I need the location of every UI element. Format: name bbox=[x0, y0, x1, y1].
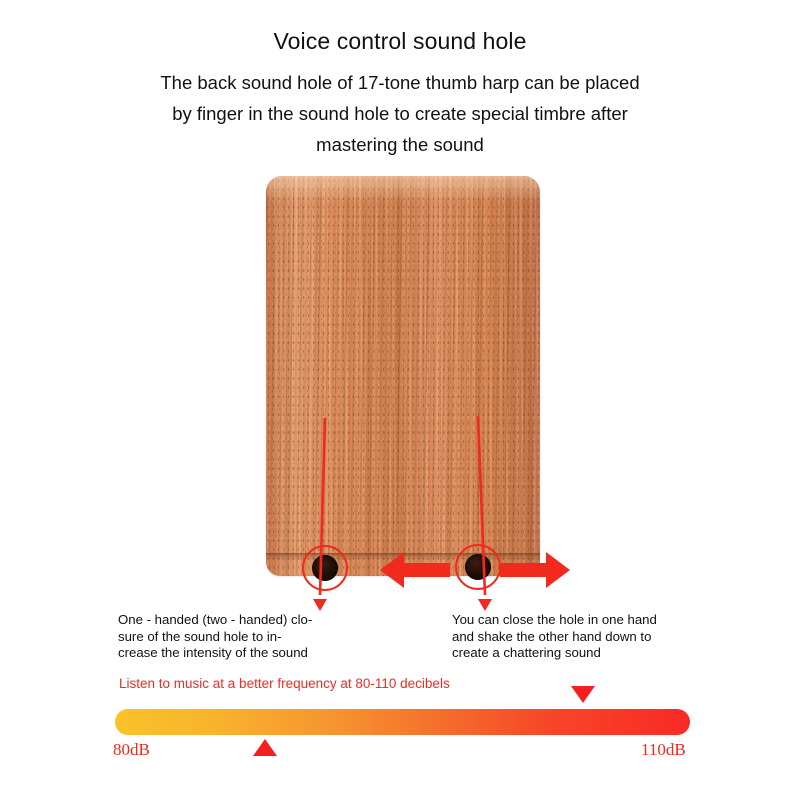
triangle-down-marker-icon bbox=[571, 686, 595, 703]
page-title: Voice control sound hole bbox=[0, 0, 800, 55]
callout-left-line-3: crease the intensity of the sound bbox=[118, 645, 368, 662]
triangle-up-marker-icon bbox=[253, 739, 277, 756]
decibel-note: Listen to music at a better frequency at… bbox=[119, 676, 450, 691]
callout-right-line-2: and shake the other hand down to bbox=[452, 629, 714, 646]
arrow-right-icon bbox=[500, 550, 572, 595]
callout-left-line-2: sure of the sound hole to in- bbox=[118, 629, 368, 646]
subtitle-line-3: mastering the sound bbox=[0, 129, 800, 160]
callout-left-line-1: One - handed (two - handed) clo- bbox=[118, 612, 368, 629]
callout-left: One - handed (two - handed) clo- sure of… bbox=[118, 612, 368, 662]
thumb-harp-wood-panel bbox=[266, 176, 540, 576]
right-sound-hole bbox=[465, 554, 491, 580]
decibel-scale: Listen to music at a better frequency at… bbox=[0, 676, 800, 766]
decibel-max-label: 110dB bbox=[641, 740, 686, 760]
callout-right-line-3: create a chattering sound bbox=[452, 645, 714, 662]
left-sound-hole bbox=[312, 555, 338, 581]
subtitle-line-2: by finger in the sound hole to create sp… bbox=[0, 98, 800, 129]
decibel-gradient-bar bbox=[115, 709, 690, 735]
callout-right-line-1: You can close the hole in one hand bbox=[452, 612, 714, 629]
decibel-min-label: 80dB bbox=[113, 740, 150, 760]
product-photo bbox=[0, 170, 800, 610]
header: Voice control sound hole The back sound … bbox=[0, 0, 800, 160]
callout-right: You can close the hole in one hand and s… bbox=[452, 612, 714, 662]
subtitle-line-1: The back sound hole of 17-tone thumb har… bbox=[0, 67, 800, 98]
subtitle-block: The back sound hole of 17-tone thumb har… bbox=[0, 67, 800, 160]
arrow-left-icon bbox=[378, 550, 450, 595]
